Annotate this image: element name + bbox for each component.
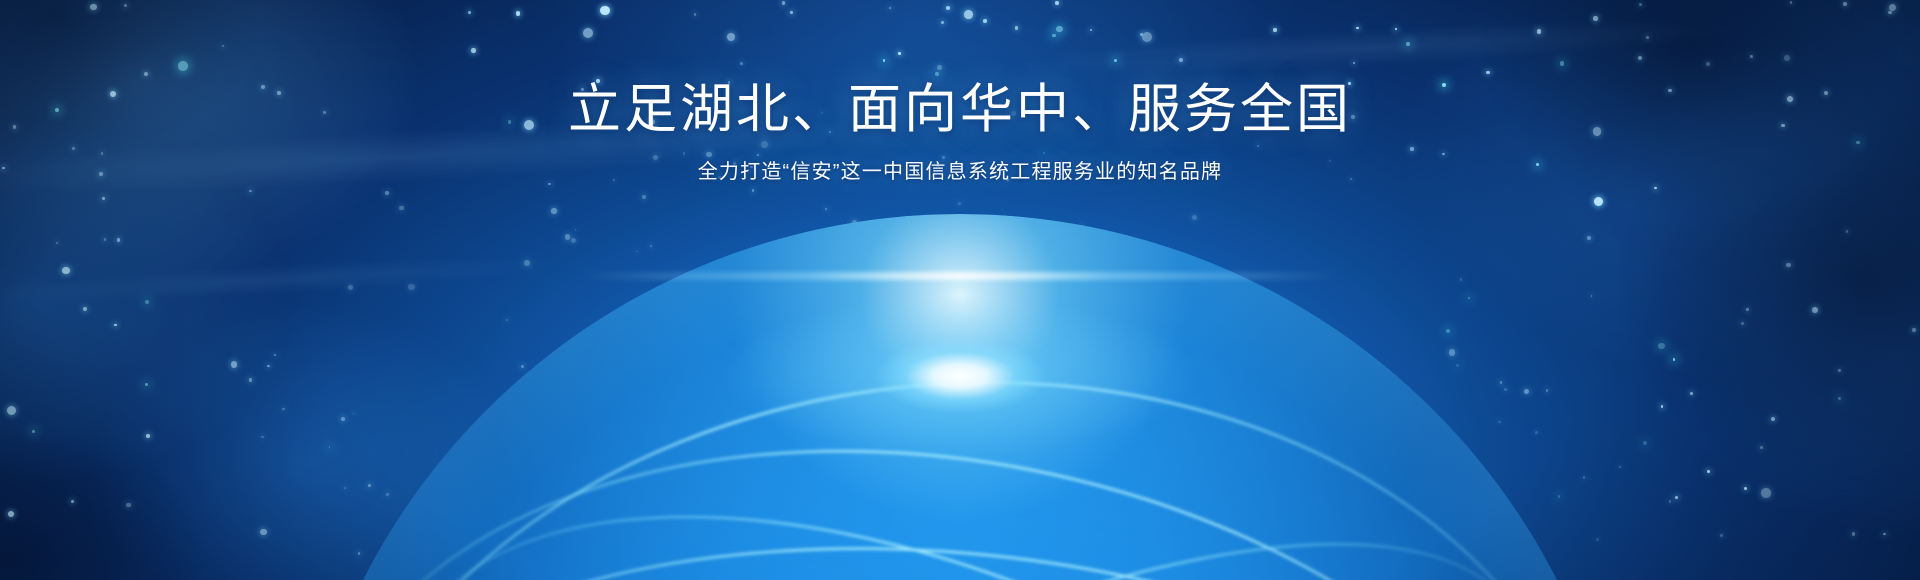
star-dot xyxy=(941,21,945,25)
star-dot xyxy=(144,72,148,76)
star-dot xyxy=(1052,34,1056,38)
star-dot xyxy=(790,11,793,14)
star-dot xyxy=(1838,369,1841,372)
star-dot xyxy=(1786,263,1790,267)
star-dot xyxy=(1846,230,1849,233)
star-dot xyxy=(261,436,264,439)
star-dot xyxy=(1406,42,1410,46)
star-dot xyxy=(471,48,475,52)
banner-headline: 立足湖北、面向华中、服务全国 xyxy=(0,80,1920,139)
star-dot xyxy=(1273,28,1277,32)
star-dot xyxy=(146,434,150,438)
star-dot xyxy=(1838,397,1841,400)
star-dot xyxy=(583,28,593,38)
star-dot xyxy=(1356,27,1359,30)
star-dot xyxy=(124,4,128,8)
star-dot xyxy=(516,11,520,15)
star-dot xyxy=(964,10,973,19)
star-dot xyxy=(1706,62,1710,66)
banner-copy: 立足湖北、面向华中、服务全国 全力打造“信安”这一中国信息系统工程服务业的知名品… xyxy=(0,80,1920,184)
star-dot xyxy=(56,242,59,245)
star-dot xyxy=(946,6,950,10)
star-dot xyxy=(1638,56,1642,60)
star-dot xyxy=(126,503,130,507)
star-dot xyxy=(1661,405,1663,407)
star-dot xyxy=(1643,441,1647,445)
star-dot xyxy=(114,324,117,327)
star-dot xyxy=(935,72,939,76)
star-dot xyxy=(752,189,755,192)
star-dot xyxy=(1537,29,1541,33)
star-dot xyxy=(1744,487,1747,490)
star-dot xyxy=(62,267,70,275)
star-dot xyxy=(889,7,891,9)
star-dot xyxy=(1761,488,1771,498)
star-dot xyxy=(1812,307,1818,313)
star-dot xyxy=(1646,36,1649,39)
star-dot xyxy=(260,529,267,536)
banner-subheadline: 全力打造“信安”这一中国信息系统工程服务业的知名品牌 xyxy=(0,155,1920,184)
star-dot xyxy=(1790,1,1792,3)
star-dot xyxy=(1771,417,1775,421)
star-dot xyxy=(1090,29,1092,31)
star-dot xyxy=(145,300,149,304)
star-dot xyxy=(898,52,901,55)
star-dot xyxy=(7,406,16,415)
star-dot xyxy=(1912,328,1916,332)
star-dot xyxy=(385,191,389,195)
star-dot xyxy=(600,6,609,15)
star-dot xyxy=(399,206,404,211)
star-dot xyxy=(83,307,88,312)
star-dot xyxy=(1888,11,1892,15)
star-dot xyxy=(102,197,105,200)
star-dot xyxy=(1690,392,1693,395)
star-dot xyxy=(1594,197,1603,206)
star-dot xyxy=(1720,534,1723,537)
star-dot xyxy=(727,33,735,41)
star-dot xyxy=(1675,496,1679,500)
star-dot xyxy=(1843,2,1847,6)
star-dot xyxy=(249,190,252,193)
star-dot xyxy=(90,4,97,11)
star-dot xyxy=(249,378,252,381)
star-dot xyxy=(1395,28,1398,31)
star-dot xyxy=(231,361,237,367)
network-globe xyxy=(290,214,1630,580)
star-dot xyxy=(222,45,224,47)
star-dot xyxy=(551,208,556,213)
star-dot xyxy=(1015,26,1018,29)
star-dot xyxy=(1741,322,1744,325)
star-dot xyxy=(1750,55,1753,58)
star-dot xyxy=(1746,308,1748,310)
star-dot xyxy=(983,19,987,23)
star-dot xyxy=(8,511,14,517)
star-dot xyxy=(1486,71,1490,75)
star-dot xyxy=(274,354,277,357)
star-dot xyxy=(117,238,121,242)
star-dot xyxy=(267,365,270,368)
star-dot xyxy=(1760,446,1763,449)
star-dot xyxy=(958,202,961,205)
star-dot xyxy=(1784,55,1790,61)
star-dot xyxy=(883,59,886,62)
star-dot xyxy=(825,208,827,210)
star-dot xyxy=(1639,3,1642,6)
star-dot xyxy=(782,1,785,4)
star-dot xyxy=(1654,187,1657,190)
star-dot xyxy=(1593,16,1597,20)
star-dot xyxy=(1114,59,1117,62)
star-dot xyxy=(642,195,647,200)
star-dot xyxy=(694,13,697,16)
star-dot xyxy=(1673,358,1676,361)
star-dot xyxy=(145,383,148,386)
star-dot xyxy=(1658,343,1665,350)
star-dot xyxy=(104,238,107,241)
star-dot xyxy=(1560,61,1565,66)
star-dot xyxy=(937,65,942,70)
star-dot xyxy=(740,62,743,65)
star-dot xyxy=(1852,532,1856,536)
star-dot xyxy=(282,408,285,411)
star-dot xyxy=(1883,533,1886,536)
hero-banner: 立足湖北、面向华中、服务全国 全力打造“信安”这一中国信息系统工程服务业的知名品… xyxy=(0,0,1920,580)
star-dot xyxy=(1179,58,1183,62)
star-dot xyxy=(1353,62,1355,64)
star-dot xyxy=(1707,470,1710,473)
star-dot xyxy=(32,430,35,433)
star-dot xyxy=(1142,32,1152,42)
star-dot xyxy=(468,11,471,14)
star-dot xyxy=(1056,26,1063,33)
star-dot xyxy=(1669,500,1671,502)
star-dot xyxy=(178,61,188,71)
star-dot xyxy=(1055,1,1059,5)
star-dot xyxy=(71,500,74,503)
